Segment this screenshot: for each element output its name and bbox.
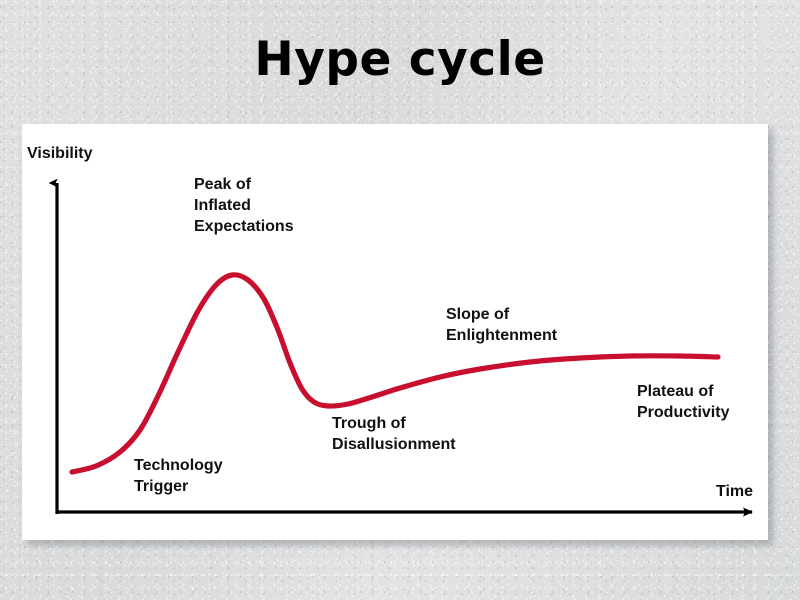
hype-cycle-chart-panel: Visibility Time Peak of Inflated Expecta… [22, 124, 768, 540]
slide-canvas: Hype cycle Visibility Time Peak of Infla… [0, 0, 800, 600]
x-axis-label: Time [716, 482, 753, 503]
annotation-slope-of-enlightenment: Slope of Enlightenment [446, 305, 557, 347]
annotation-peak-of-inflated-expectations: Peak of Inflated Expectations [194, 175, 294, 237]
annotation-technology-trigger: Technology Trigger [134, 456, 223, 498]
annotation-plateau-of-productivity: Plateau of Productivity [637, 382, 729, 424]
page-title: Hype cycle [0, 36, 800, 83]
y-axis-label: Visibility [27, 144, 93, 165]
annotation-trough-of-disallusionment: Trough of Disallusionment [332, 414, 456, 456]
